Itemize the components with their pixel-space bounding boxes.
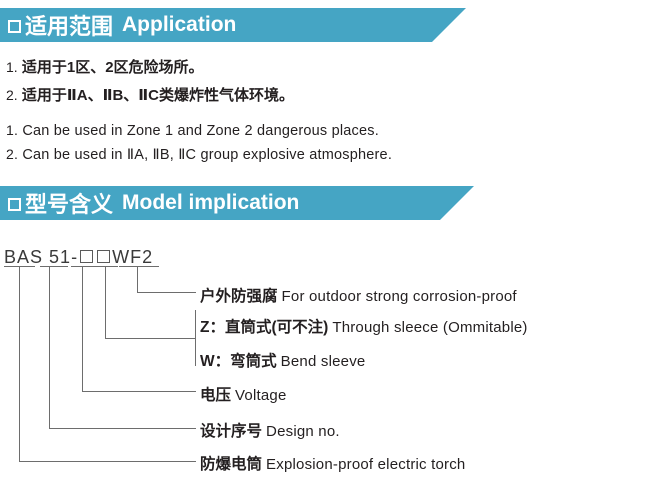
- list-number: 2.: [6, 146, 18, 162]
- tree-branch-line-1: [19, 461, 196, 462]
- tree-label-en: For outdoor strong corrosion-proof: [282, 288, 517, 305]
- tree-label-design-no: 设计序号 Design no.: [200, 419, 340, 441]
- square-bullet-icon: [8, 198, 21, 211]
- tree-drop-line-3: [82, 266, 83, 392]
- list-text: 适用于1区、2区危险场所。: [22, 59, 204, 76]
- list-text: 适用于ⅡA、ⅡB、ⅡC类爆炸性气体环境。: [22, 87, 294, 104]
- section-title-cn: 适用范围: [25, 9, 113, 41]
- tree-branch-line-4: [105, 338, 196, 339]
- list-number: 2.: [6, 87, 18, 103]
- section-title-en: Application: [122, 13, 236, 37]
- application-item-cn-1: 1. 适用于1区、2区危险场所。: [6, 56, 204, 77]
- square-bullet-icon: [8, 20, 21, 33]
- list-number: 1.: [6, 59, 18, 75]
- tree-label-bend-sleeve: W：弯筒式 Bend sleeve: [200, 349, 365, 371]
- tree-bracket-sleeve: [195, 310, 196, 366]
- tree-label-cn: 设计序号: [200, 423, 262, 440]
- code-underline-2: [40, 266, 68, 267]
- tree-label-en: Bend sleeve: [281, 353, 366, 370]
- model-code-string: BAS 51-WF2: [4, 247, 153, 268]
- model-code-part-wf2: WF2: [112, 247, 153, 267]
- section-title-en: Model implication: [122, 191, 299, 215]
- tree-label-cn: Z：直筒式(可不注): [200, 319, 328, 336]
- tree-label-cn: 户外防强腐: [200, 288, 278, 305]
- tree-branch-line-2: [49, 428, 196, 429]
- model-code-box-2: [97, 250, 110, 263]
- tree-label-voltage: 电压 Voltage: [200, 383, 287, 405]
- tree-branch-line-3: [82, 391, 196, 392]
- section-header-application: 适用范围 Application: [0, 8, 466, 42]
- section-title-cn: 型号含义: [25, 187, 113, 219]
- tree-label-explosion-proof-torch: 防爆电筒 Explosion-proof electric torch: [200, 452, 465, 474]
- section-header-model: 型号含义 Model implication: [0, 186, 474, 220]
- tree-branch-line-5: [137, 292, 196, 293]
- tree-drop-line-2: [49, 266, 50, 429]
- tree-label-cn: 防爆电筒: [200, 456, 262, 473]
- tree-label-outdoor-corrosion: 户外防强腐 For outdoor strong corrosion-proof: [200, 284, 517, 306]
- tree-label-en: Voltage: [235, 387, 286, 404]
- application-item-en-1: 1. Can be used in Zone 1 and Zone 2 dang…: [6, 122, 379, 139]
- tree-drop-line-4: [105, 266, 106, 339]
- model-code-part-bas: BAS: [4, 247, 43, 267]
- tree-label-cn: 电压: [200, 387, 231, 404]
- tree-label-en: Explosion-proof electric torch: [266, 456, 465, 473]
- code-underline-4: [95, 266, 118, 267]
- code-underline-3: [71, 266, 95, 267]
- tree-label-cn: W：弯筒式: [200, 353, 277, 370]
- application-item-cn-2: 2. 适用于ⅡA、ⅡB、ⅡC类爆炸性气体环境。: [6, 84, 294, 105]
- tree-label-through-sleeve: Z：直筒式(可不注) Through sleece (Ommitable): [200, 315, 528, 337]
- tree-drop-line-1: [19, 266, 20, 462]
- tree-label-en: Design no.: [266, 423, 340, 440]
- tree-drop-line-5: [137, 266, 138, 293]
- application-item-en-2: 2. Can be used in ⅡA, ⅡB, ⅡC group explo…: [6, 146, 392, 163]
- list-text: Can be used in ⅡA, ⅡB, ⅡC group explosiv…: [22, 147, 392, 163]
- model-code-dash: -: [71, 247, 78, 267]
- model-code-part-51: 51: [49, 247, 71, 267]
- model-code-box-1: [80, 250, 93, 263]
- code-underline-5: [119, 266, 159, 267]
- tree-label-en: Through sleece (Ommitable): [332, 319, 527, 336]
- list-text: Can be used in Zone 1 and Zone 2 dangero…: [22, 123, 379, 139]
- list-number: 1.: [6, 122, 18, 138]
